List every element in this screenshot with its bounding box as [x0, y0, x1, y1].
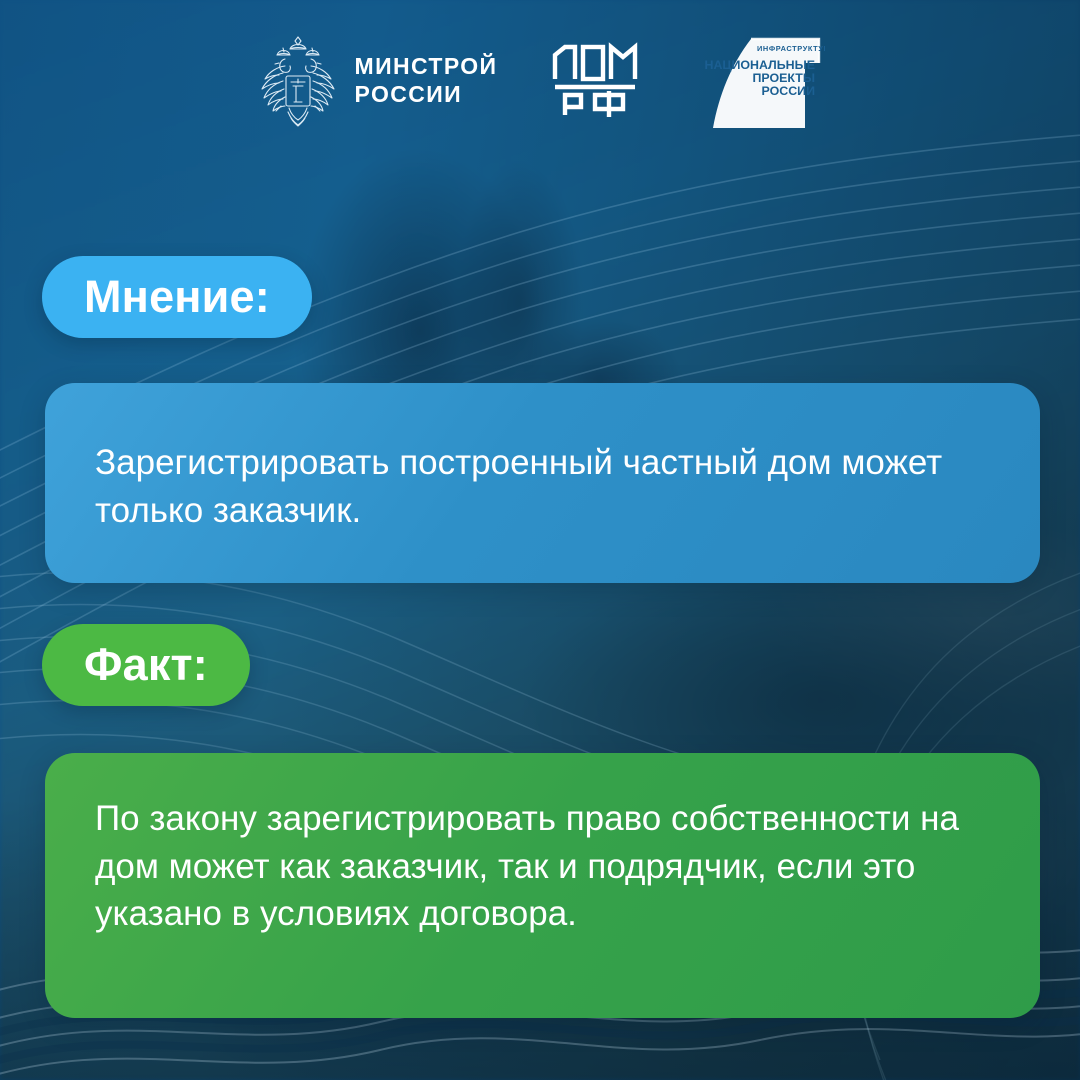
opinion-card-text: Зарегистрировать построенный частный дом…	[95, 439, 990, 534]
opinion-card: Зарегистрировать построенный частный дом…	[45, 383, 1040, 583]
minstroy-line-2: РОССИИ	[355, 81, 463, 107]
svg-text:РОССИИ: РОССИИ	[762, 84, 816, 98]
russian-coat-of-arms-eagle-icon	[255, 32, 341, 128]
minstroy-line-1: МИНСТРОЙ	[355, 53, 498, 79]
minstroy-logo-text: МИНСТРОЙ РОССИИ	[355, 52, 498, 108]
dom-rf-logo-icon	[549, 39, 641, 121]
fact-card-text: По закону зарегистрировать право собстве…	[95, 795, 990, 938]
svg-text:НАЦИОНАЛЬНЫЕ: НАЦИОНАЛЬНЫЕ	[705, 58, 815, 72]
svg-text:ПРОЕКТЫ: ПРОЕКТЫ	[753, 71, 815, 85]
fact-card: По закону зарегистрировать право собстве…	[45, 753, 1040, 1018]
logo-bar: МИНСТРОЙ РОССИИ	[0, 0, 1080, 160]
minstroy-logo: МИНСТРОЙ РОССИИ	[255, 32, 498, 128]
fact-pill-label: Факт:	[42, 624, 250, 706]
svg-text:ИНФРАСТРУКТУРА: ИНФРАСТРУКТУРА	[757, 44, 825, 53]
poster-canvas: МИНСТРОЙ РОССИИ	[0, 0, 1080, 1080]
national-projects-flag-icon: ИНФРАСТРУКТУРА НАЦИОНАЛЬНЫЕ ПРОЕКТЫ РОСС…	[693, 25, 825, 135]
opinion-pill-label: Мнение:	[42, 256, 312, 338]
